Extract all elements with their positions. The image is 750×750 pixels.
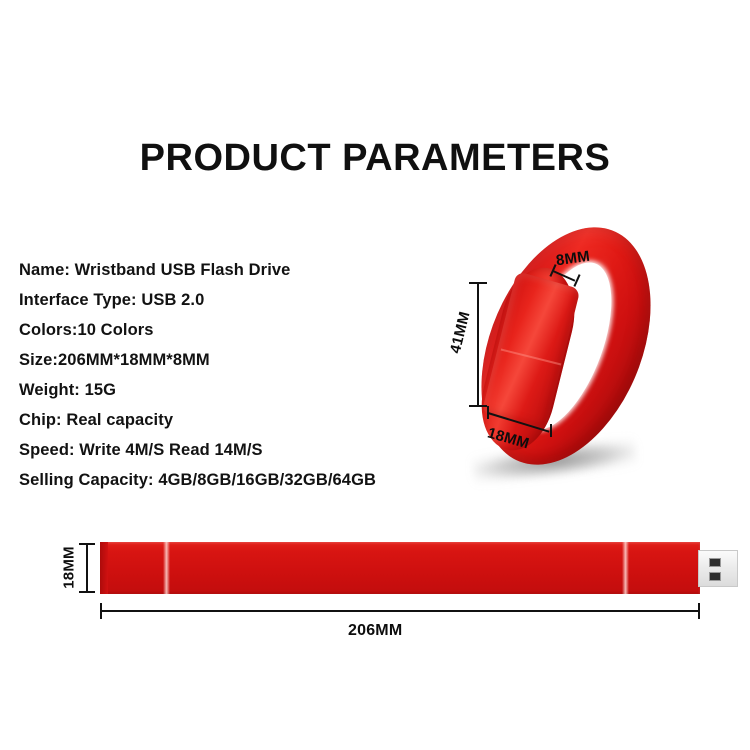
spec-row-chip: Chip: Real capacity	[19, 405, 439, 435]
page-title: PRODUCT PARAMETERS	[0, 137, 750, 180]
specification-list: Name: Wristband USB Flash Drive Interfac…	[19, 255, 439, 495]
coiled-wristband-figure: 41MM 8MM 18MM	[452, 214, 682, 514]
dimension-cap-18mm-coil-left	[487, 406, 489, 419]
dimension-line-206mm	[100, 610, 700, 612]
dimension-cap-18mm-strap-top	[79, 543, 95, 545]
dimension-label-height: 41MM	[447, 310, 474, 355]
flat-wristband-figure: 18MM 206MM	[60, 528, 740, 643]
dimension-label-length: 206MM	[348, 622, 402, 640]
dimension-cap-41mm-bottom	[469, 405, 487, 407]
usb-contact-bottom	[709, 572, 721, 581]
dimension-cap-18mm-strap-bottom	[79, 591, 95, 593]
dimension-cap-206mm-right	[698, 603, 700, 619]
strap-seam-right	[622, 542, 629, 594]
dimension-label-width-strap: 18MM	[61, 546, 78, 588]
spec-row-selling-capacity: Selling Capacity: 4GB/8GB/16GB/32GB/64GB	[19, 465, 439, 495]
spec-row-speed: Speed: Write 4M/S Read 14M/S	[19, 435, 439, 465]
spec-row-colors: Colors:10 Colors	[19, 315, 439, 345]
dimension-cap-206mm-left	[100, 603, 102, 619]
spec-row-interface-type: Interface Type: USB 2.0	[19, 285, 439, 315]
dimension-line-18mm-strap	[86, 543, 88, 593]
dimension-cap-18mm-coil-right	[550, 424, 552, 437]
usb-connector	[698, 550, 738, 587]
strap-body	[100, 542, 700, 594]
spec-row-size: Size:206MM*18MM*8MM	[19, 345, 439, 375]
dimension-line-41mm	[477, 282, 479, 407]
dimension-cap-41mm-top	[469, 282, 487, 284]
strap-seam-left	[163, 542, 170, 594]
spec-row-name: Name: Wristband USB Flash Drive	[19, 255, 439, 285]
usb-contact-top	[709, 558, 721, 567]
spec-row-weight: Weight: 15G	[19, 375, 439, 405]
strap-left-end	[100, 542, 108, 594]
